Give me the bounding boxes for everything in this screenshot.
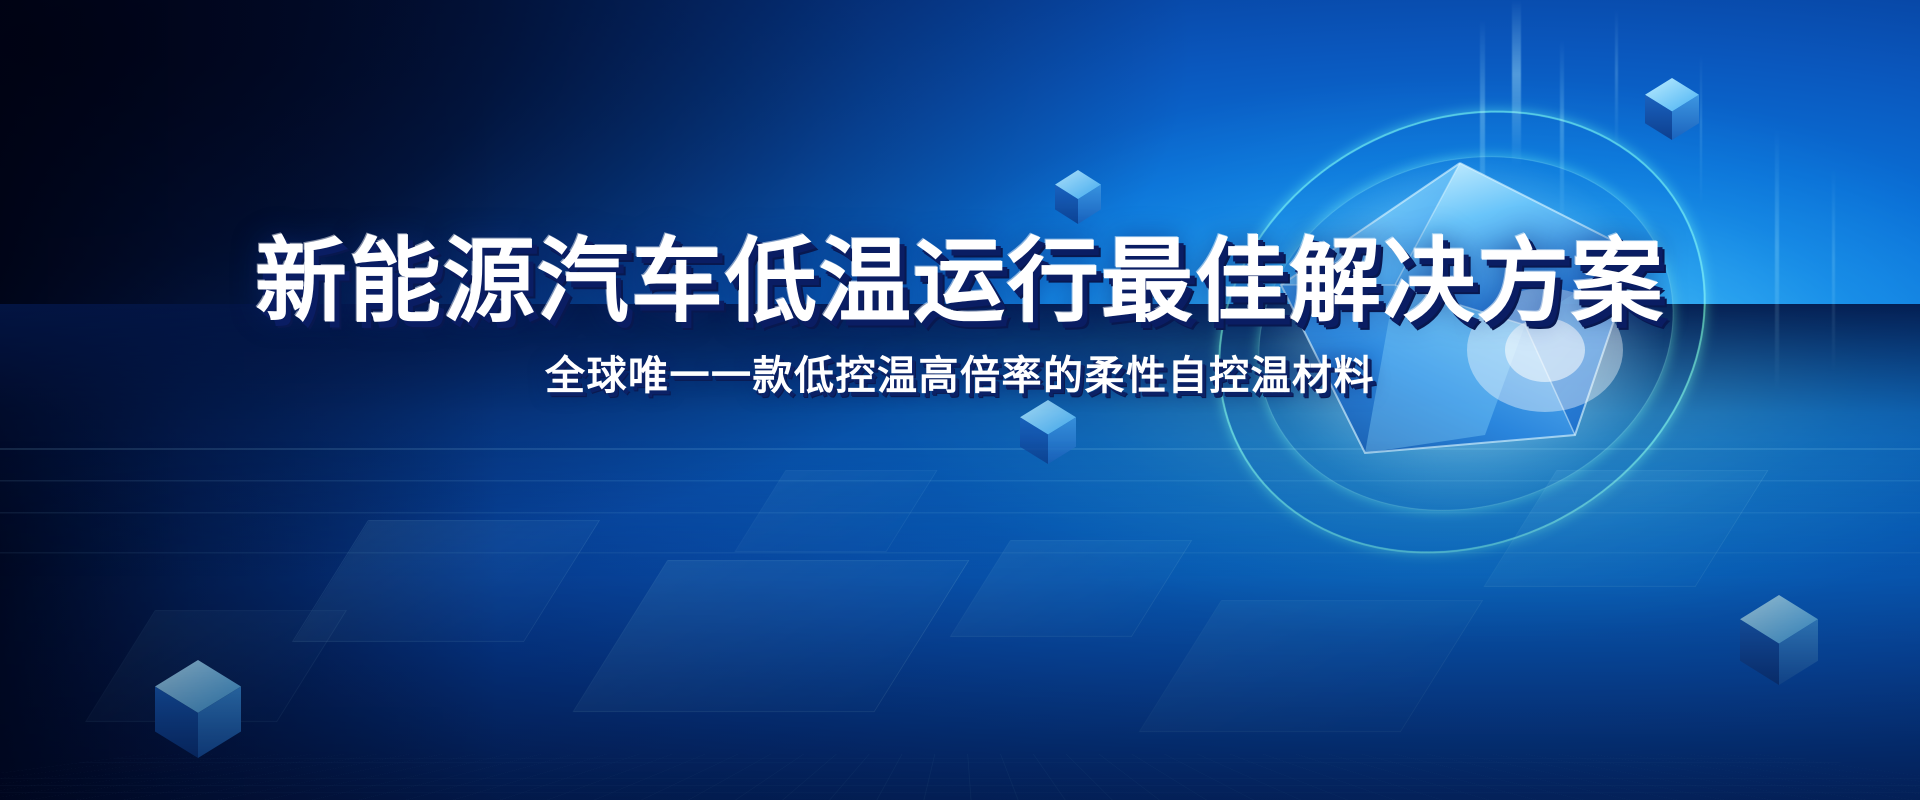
floating-cube xyxy=(155,660,241,758)
banner-headline: 新能源汽车低温运行最佳解决方案 xyxy=(0,236,1920,328)
banner-subline: 全球唯一一款低控温高倍率的柔性自控温材料 xyxy=(0,354,1920,398)
hero-banner: 新能源汽车低温运行最佳解决方案 全球唯一一款低控温高倍率的柔性自控温材料 xyxy=(0,0,1920,800)
vertical-light-bar xyxy=(1615,10,1618,150)
floating-cube xyxy=(1055,170,1101,224)
floating-cube xyxy=(1020,400,1076,464)
floating-cube xyxy=(1740,595,1818,685)
banner-text-block: 新能源汽车低温运行最佳解决方案 全球唯一一款低控温高倍率的柔性自控温材料 xyxy=(0,236,1920,398)
vertical-light-bar xyxy=(1700,55,1702,205)
floating-cube xyxy=(1645,78,1699,140)
